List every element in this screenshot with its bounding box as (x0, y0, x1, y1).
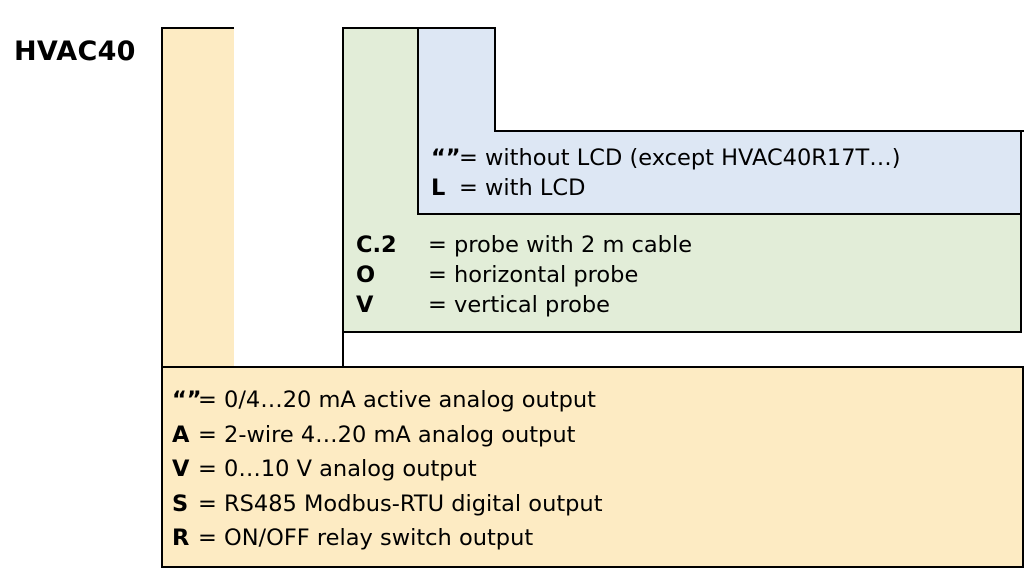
lcd-column-mask (494, 27, 1024, 132)
ordering-code-diagram: HVAC40 17T “”= without LCD (except HVAC4… (0, 0, 1033, 573)
legend-row: “”= without LCD (except HVAC40R17T…) (431, 143, 901, 173)
probe-option-legend: C.2= probe with 2 m cable O= horizontal … (356, 230, 692, 320)
option-description: = without LCD (except HVAC40R17T…) (459, 143, 901, 173)
option-code: R (172, 521, 198, 556)
legend-row: V= vertical probe (356, 290, 692, 320)
product-family-label: HVAC40 (14, 36, 136, 67)
option-description: = vertical probe (428, 290, 610, 320)
lcd-option-legend: “”= without LCD (except HVAC40R17T…) L= … (431, 143, 901, 203)
option-description: = with LCD (459, 173, 585, 203)
option-code: S (172, 487, 198, 522)
option-code: “” (172, 383, 198, 418)
option-code: O (356, 260, 428, 290)
legend-row: V= 0…10 V analog output (172, 452, 603, 487)
legend-row: A= 2-wire 4…20 mA analog output (172, 418, 603, 453)
option-code: V (172, 452, 198, 487)
option-code: A (172, 418, 198, 453)
option-code: L (431, 173, 459, 203)
legend-row: L= with LCD (431, 173, 901, 203)
legend-row: C.2= probe with 2 m cable (356, 230, 692, 260)
output-option-legend: “”= 0/4…20 mA active analog output A= 2-… (172, 383, 603, 556)
option-code: “” (431, 143, 459, 173)
option-description: = RS485 Modbus-RTU digital output (198, 487, 603, 522)
output-column-notch (234, 27, 344, 368)
output-option-column (161, 27, 236, 367)
option-description: = 2-wire 4…20 mA analog output (198, 418, 575, 453)
option-description: = 0…10 V analog output (198, 452, 477, 487)
legend-row: “”= 0/4…20 mA active analog output (172, 383, 603, 418)
option-description: = 0/4…20 mA active analog output (198, 383, 596, 418)
option-description: = horizontal probe (428, 260, 638, 290)
option-description: = ON/OFF relay switch output (198, 521, 533, 556)
option-code: V (356, 290, 428, 320)
option-description: = probe with 2 m cable (428, 230, 692, 260)
legend-row: S= RS485 Modbus-RTU digital output (172, 487, 603, 522)
legend-row: O= horizontal probe (356, 260, 692, 290)
legend-row: R= ON/OFF relay switch output (172, 521, 603, 556)
option-code: C.2 (356, 230, 428, 260)
